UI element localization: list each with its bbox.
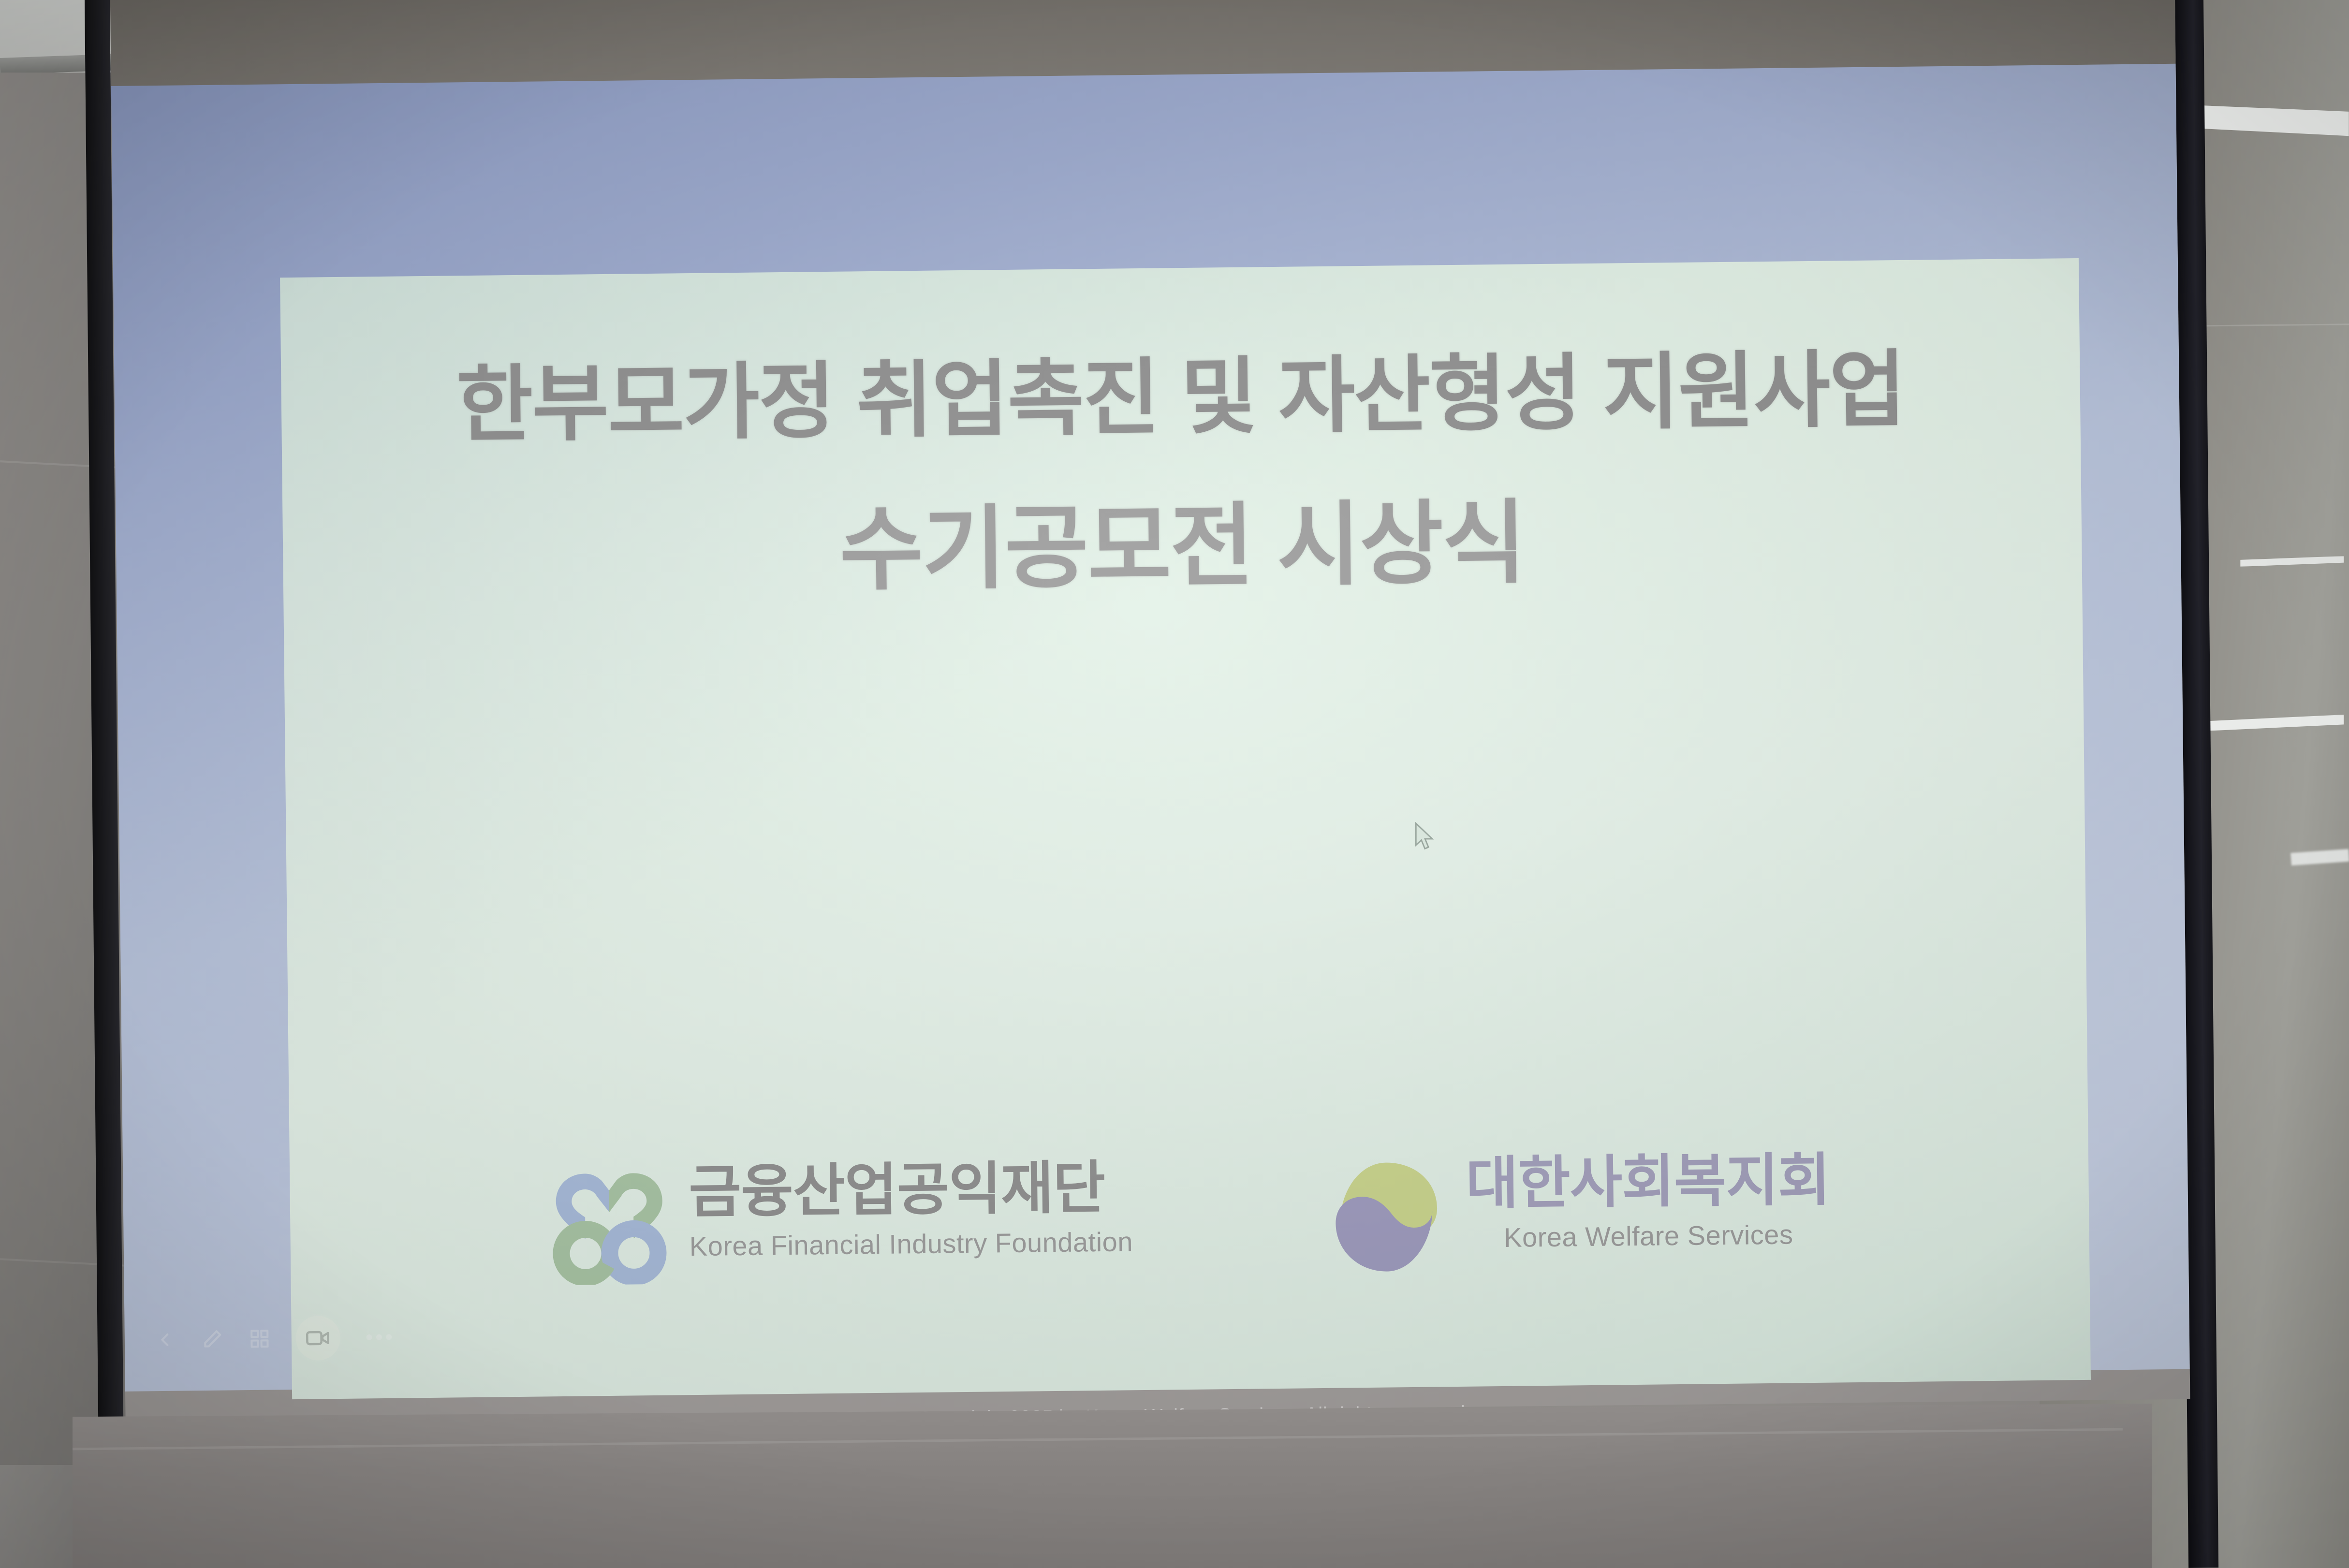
slide-grid-icon[interactable] [249, 1328, 271, 1350]
logo-name-en-kws: Korea Welfare Services [1466, 1217, 1831, 1255]
mouse-cursor [1414, 822, 1437, 852]
logo-korea-financial-industry-foundation: 금융산업공익재단 Korea Financial Industry Founda… [548, 1158, 1133, 1288]
right-wall-light-reflection-bottom [2290, 849, 2349, 865]
right-wall-light-reflection-lower [2204, 715, 2344, 731]
ellipsis-icon[interactable]: ••• [366, 1332, 395, 1343]
right-wall-light-reflection-mid [2240, 556, 2344, 567]
slide-title-block: 한부모가정 취업촉진 및 자산형성 지원사업 수기공모전 시상식 [281, 340, 2082, 608]
slide-logo-row: 금융산업공익재단 Korea Financial Industry Founda… [290, 1148, 2090, 1290]
logo-korea-welfare-services: 대한사회복지회 Korea Welfare Services [1325, 1151, 1831, 1279]
slide-title-line-1: 한부모가정 취업촉진 및 자산형성 지원사업 [281, 340, 2081, 455]
interlocking-hearts-icon [548, 1163, 671, 1288]
powerpoint-slide[interactable]: 한부모가정 취업촉진 및 자산형성 지원사업 수기공모전 시상식 [280, 258, 2091, 1399]
video-camera-icon[interactable] [295, 1316, 340, 1361]
slide-title-line-2: 수기공모전 시상식 [282, 484, 2082, 608]
bottom-wall [73, 1404, 2152, 1568]
projection-screen-surface: 한부모가정 취업촉진 및 자산형성 지원사업 수기공모전 시상식 [110, 0, 2190, 1421]
logo-name-kr-kfif: 금융산업공익재단 [689, 1158, 1132, 1223]
presenter-toolbar[interactable]: ••• [153, 1315, 395, 1362]
logo-text-kws: 대한사회복지회 Korea Welfare Services [1466, 1151, 1831, 1255]
logo-text-kfif: 금융산업공익재단 Korea Financial Industry Founda… [689, 1158, 1133, 1263]
left-wall-seam-lower [0, 1258, 145, 1268]
logo-name-en-kfif: Korea Financial Industry Foundation [689, 1225, 1133, 1263]
yin-yang-swirl-icon [1325, 1155, 1448, 1279]
pen-icon[interactable] [201, 1328, 223, 1350]
meeting-room-scene: 한부모가정 취업촉진 및 자산형성 지원사업 수기공모전 시상식 [0, 0, 2349, 1568]
logo-name-kr-kws: 대한사회복지회 [1466, 1151, 1830, 1215]
projector-letterbox-area: 한부모가정 취업촉진 및 자산형성 지원사업 수기공모전 시상식 [111, 64, 2190, 1392]
back-arrow-icon[interactable] [154, 1329, 176, 1351]
